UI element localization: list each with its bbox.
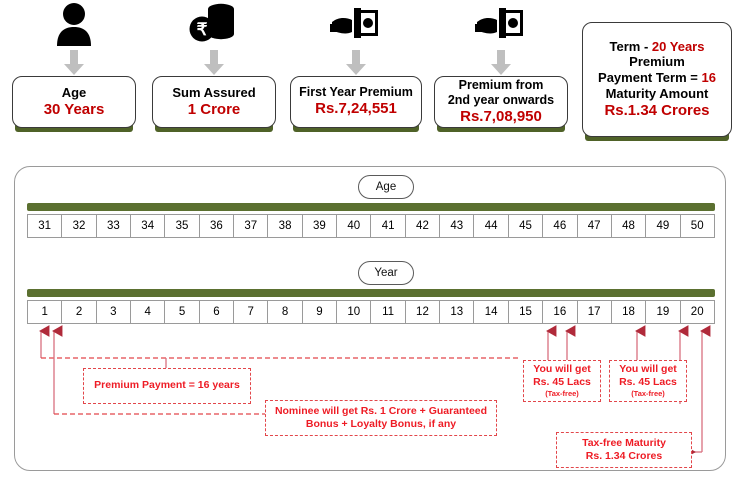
callout-maturity: Tax-free Maturity Rs. 1.34 Crores	[556, 432, 692, 468]
year-cell: 11	[371, 300, 405, 324]
card-line: First Year Premium	[299, 85, 413, 100]
year-cell: 4	[131, 300, 165, 324]
summary-cards-row: Age 30 Years	[0, 0, 740, 152]
age-cell: 31	[27, 214, 62, 238]
age-cell: 37	[234, 214, 268, 238]
age-row-label: Age	[358, 175, 414, 199]
summary-card-first-year-premium: First Year Premium Rs.7,24,551	[290, 0, 422, 128]
year-row-label: Year	[358, 261, 414, 285]
hand-cash-icon	[328, 0, 384, 48]
age-cell: 39	[303, 214, 337, 238]
person-icon	[54, 0, 94, 48]
year-cell: 1	[27, 300, 62, 324]
card-line: 30 Years	[44, 101, 105, 119]
year-cell: 13	[440, 300, 474, 324]
callout-line: Rs. 1.34 Crores	[586, 450, 662, 463]
age-cell: 45	[509, 214, 543, 238]
card-body-term-maturity: Term - 20 Years Premium Payment Term = 1…	[582, 22, 732, 137]
callout-line: You will get	[619, 363, 677, 376]
year-cell: 12	[406, 300, 440, 324]
card-line: Maturity Amount	[606, 86, 709, 102]
year-cell: 8	[268, 300, 302, 324]
age-cell: 40	[337, 214, 371, 238]
summary-card-renewal-premium: Premium from 2nd year onwards Rs.7,08,95…	[434, 0, 568, 128]
summary-card-sum-assured: ₹ Sum Assured 1 Crore	[152, 0, 276, 128]
callout-line: Nominee will get Rs. 1 Crore + Guarantee…	[275, 405, 487, 418]
card-body-renewal-premium: Premium from 2nd year onwards Rs.7,08,95…	[434, 76, 568, 128]
year-cell: 10	[337, 300, 371, 324]
year-cell: 9	[303, 300, 337, 324]
year-green-bar	[27, 289, 715, 297]
year-cell: 14	[474, 300, 508, 324]
callout-line: Premium Payment = 16 years	[94, 379, 240, 392]
age-cell: 33	[97, 214, 131, 238]
card-line: 1 Crore	[188, 101, 241, 119]
callout-payout-year-18: You will get Rs. 45 Lacs (Tax-free)	[609, 360, 687, 402]
year-cell: 19	[646, 300, 680, 324]
year-cell: 18	[612, 300, 646, 324]
age-cell: 43	[440, 214, 474, 238]
card-line-value: 16	[701, 70, 715, 85]
age-cell: 42	[406, 214, 440, 238]
card-line: Premium	[629, 54, 685, 70]
year-cell: 3	[97, 300, 131, 324]
callout-line: Tax-free Maturity	[582, 437, 666, 450]
card-line: Premium from	[459, 78, 544, 93]
age-cell: 46	[543, 214, 577, 238]
year-cell: 16	[543, 300, 577, 324]
callout-line: Rs. 45 Lacs	[619, 376, 677, 389]
age-cell: 49	[646, 214, 680, 238]
age-cell: 36	[200, 214, 234, 238]
callout-premium-payment: Premium Payment = 16 years	[83, 368, 251, 404]
card-line-label: Term -	[610, 39, 652, 54]
illustration-root: Age 30 Years	[0, 0, 740, 479]
age-cell: 41	[371, 214, 405, 238]
card-line: Sum Assured	[172, 85, 255, 101]
age-cell: 34	[131, 214, 165, 238]
callout-note: (Tax-free)	[545, 389, 579, 398]
down-arrow-icon	[490, 50, 512, 76]
card-line: Term - 20 Years	[610, 39, 705, 55]
year-cell: 15	[509, 300, 543, 324]
age-cell: 35	[165, 214, 199, 238]
year-scale: 1234567891011121314151617181920	[27, 300, 715, 324]
callout-line: Bonus + Loyalty Bonus, if any	[306, 418, 456, 431]
card-line: Age	[62, 85, 87, 101]
age-cell: 32	[62, 214, 96, 238]
card-line: Rs.7,08,950	[460, 108, 542, 126]
year-cell: 20	[681, 300, 715, 324]
down-arrow-icon	[345, 50, 367, 76]
card-body-first-year-premium: First Year Premium Rs.7,24,551	[290, 76, 422, 128]
age-green-bar	[27, 203, 715, 211]
down-arrow-icon	[63, 50, 85, 76]
card-line: Rs.1.34 Crores	[604, 102, 709, 120]
svg-text:₹: ₹	[197, 20, 208, 39]
year-cell: 7	[234, 300, 268, 324]
callout-nominee-benefit: Nominee will get Rs. 1 Crore + Guarantee…	[265, 400, 497, 436]
year-cell: 6	[200, 300, 234, 324]
age-scale: 3132333435363738394041424344454647484950	[27, 214, 715, 238]
callout-payout-year-16: You will get Rs. 45 Lacs (Tax-free)	[523, 360, 601, 402]
age-cell: 47	[578, 214, 612, 238]
card-body-sum-assured: Sum Assured 1 Crore	[152, 76, 276, 128]
summary-card-term-maturity: Term - 20 Years Premium Payment Term = 1…	[582, 22, 732, 137]
down-arrow-icon	[203, 50, 225, 76]
card-line-value: 20 Years	[652, 39, 705, 54]
card-line-label: Payment Term =	[598, 70, 701, 85]
coin-stack-rupee-icon: ₹	[188, 0, 240, 48]
year-cell: 2	[62, 300, 96, 324]
age-cell: 48	[612, 214, 646, 238]
hand-cash-icon	[473, 0, 529, 48]
age-cell: 44	[474, 214, 508, 238]
card-line: Rs.7,24,551	[315, 100, 397, 118]
callout-line: You will get	[533, 363, 591, 376]
age-cell: 50	[681, 214, 715, 238]
callout-line: Rs. 45 Lacs	[533, 376, 591, 389]
card-line: Payment Term = 16	[598, 70, 716, 86]
summary-card-age: Age 30 Years	[12, 0, 136, 128]
year-cell: 5	[165, 300, 199, 324]
card-line: 2nd year onwards	[448, 93, 554, 108]
card-body-age: Age 30 Years	[12, 76, 136, 128]
callout-note: (Tax-free)	[631, 389, 665, 398]
year-cell: 17	[578, 300, 612, 324]
age-cell: 38	[268, 214, 302, 238]
